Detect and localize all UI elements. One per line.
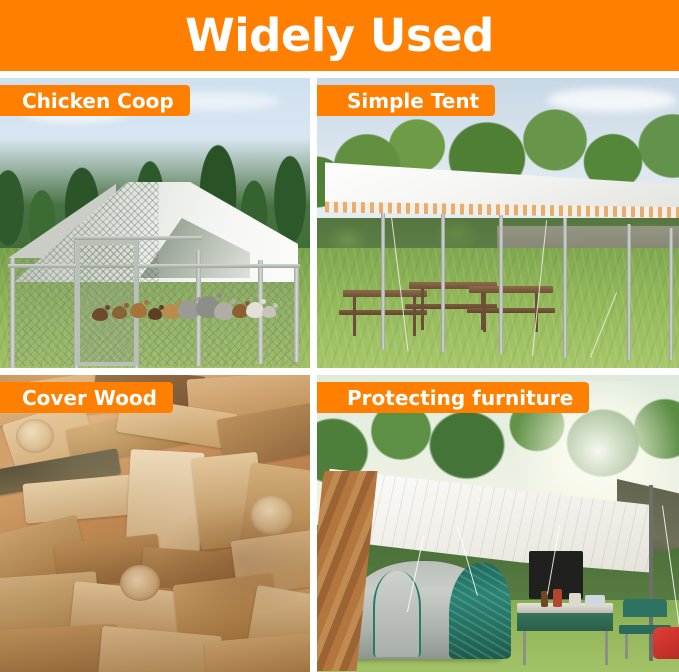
panel-simple-tent: Simple Tent	[317, 78, 679, 368]
panel-grid: Chicken Coop	[0, 78, 679, 672]
tent-pole	[669, 228, 673, 360]
camp-container	[585, 595, 605, 605]
camping-tent-side	[449, 563, 511, 659]
camp-kettle	[569, 593, 581, 606]
simple-tent-photo	[317, 78, 679, 368]
chicken-coop-photo	[0, 78, 310, 368]
camping-photo	[317, 375, 679, 672]
page-title: Widely Used	[185, 13, 494, 58]
chicken	[92, 308, 108, 321]
coop-post	[10, 258, 15, 368]
log-end-grain	[120, 565, 160, 601]
panel-chicken-coop: Chicken Coop	[0, 78, 310, 368]
coop-post	[294, 266, 299, 362]
panel-protecting-furniture: Protecting furniture	[317, 375, 679, 672]
panel-cover-wood: Cover Wood	[0, 375, 310, 672]
chicken	[214, 302, 234, 320]
tent-pole	[499, 212, 503, 354]
tent-pole	[627, 224, 631, 360]
coop-door	[76, 240, 138, 366]
camp-table-frame	[517, 613, 613, 631]
camp-bottle	[553, 589, 562, 607]
red-bag	[653, 627, 679, 659]
firewood-photo	[0, 375, 310, 672]
camp-table-leg	[605, 631, 608, 665]
log-end-grain	[16, 419, 54, 453]
tent-pole	[563, 218, 567, 358]
coop-rail	[8, 264, 300, 268]
badge-chicken-coop: Chicken Coop	[0, 85, 190, 116]
badge-simple-tent: Simple Tent	[317, 85, 495, 116]
chicken	[262, 306, 276, 318]
badge-cover-wood: Cover Wood	[0, 382, 173, 413]
tent-pole	[381, 200, 385, 350]
chicken	[148, 308, 162, 320]
tent-pole	[441, 206, 445, 352]
badge-protecting-furniture: Protecting furniture	[317, 382, 589, 413]
chicken	[246, 302, 264, 318]
chicken	[112, 306, 127, 319]
chicken	[130, 303, 147, 318]
header-banner: Widely Used	[0, 0, 679, 71]
camp-table-leg	[523, 631, 526, 665]
picnic-table	[469, 286, 553, 332]
log-end-grain	[250, 495, 294, 535]
infographic-page: Widely Used	[0, 0, 679, 672]
